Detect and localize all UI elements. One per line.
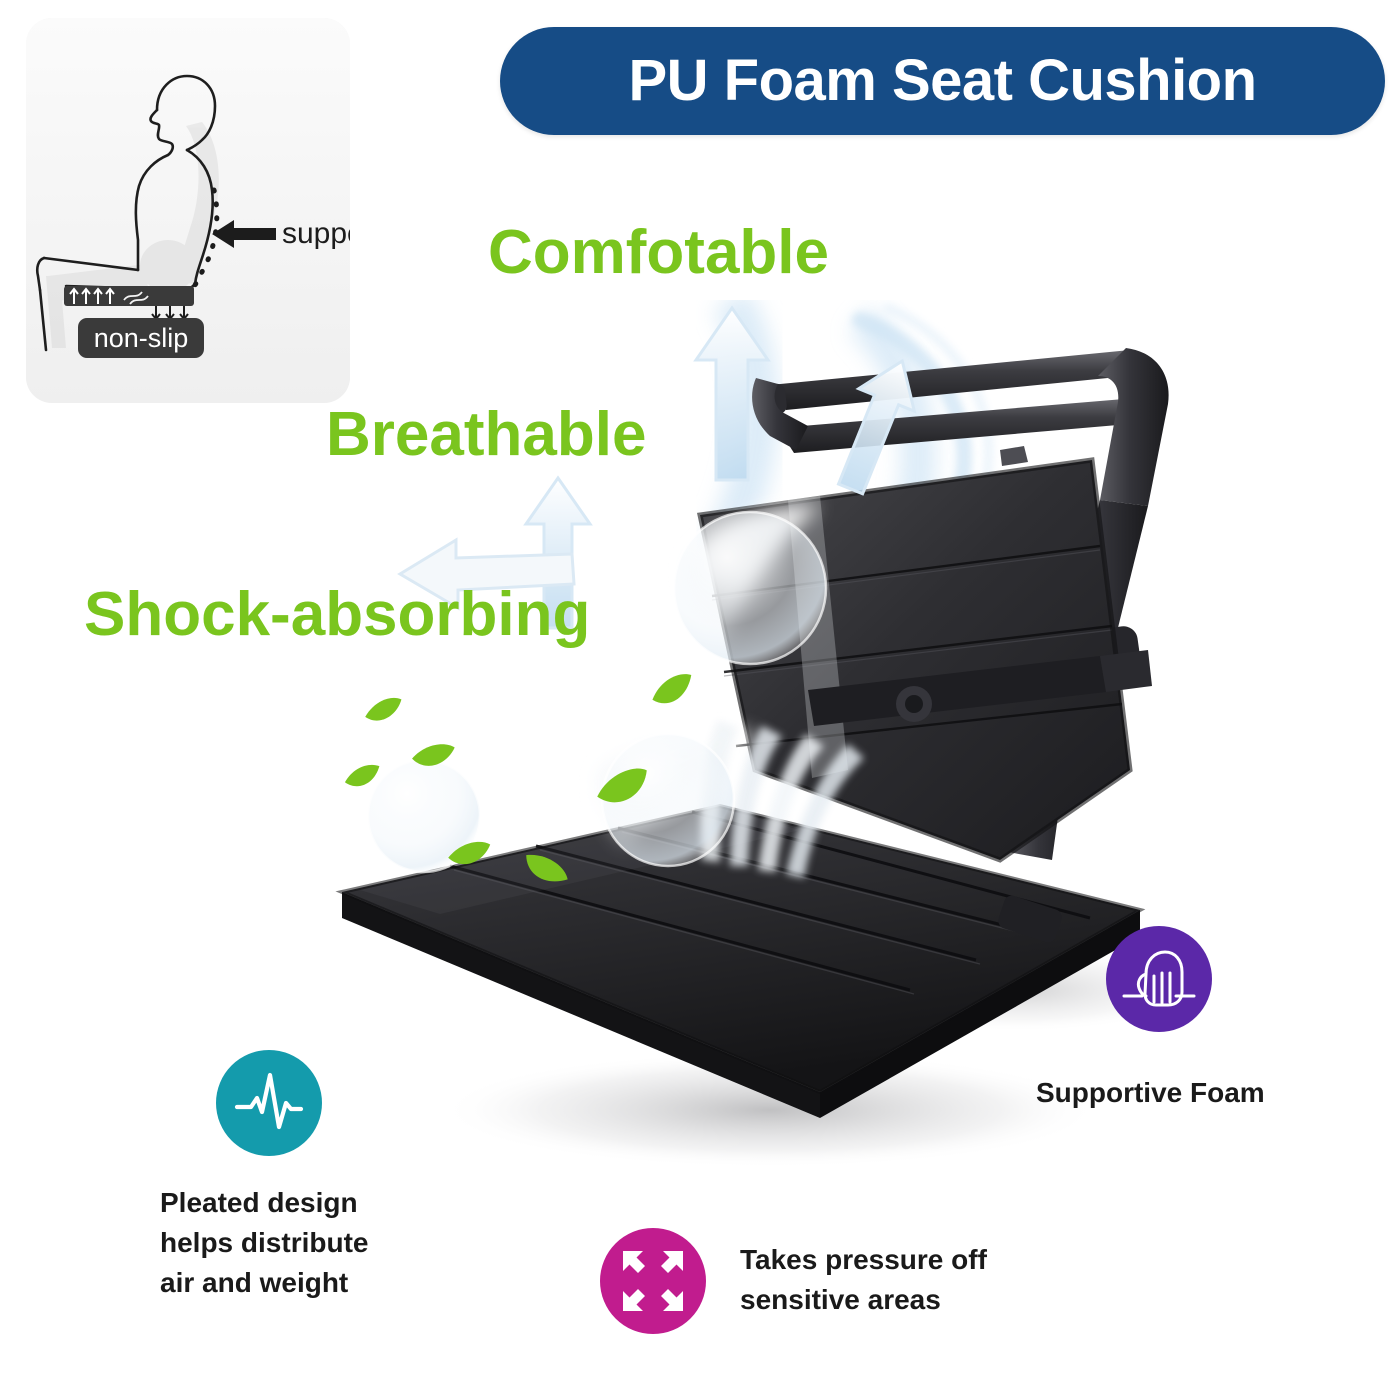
non-slip-label: non-slip <box>94 323 189 353</box>
hand-pressing-foam-icon <box>1120 940 1198 1018</box>
badge-pleated-design-icon-circle <box>216 1050 322 1156</box>
four-way-expand-arrows-icon <box>619 1247 687 1315</box>
feature-heading-shock-absorbing: Shock-absorbing <box>84 584 590 646</box>
badge-pressure-relief-icon-circle <box>600 1228 706 1334</box>
badge-pleated-design-caption: Pleated design helps distribute air and … <box>160 1183 480 1302</box>
support-label: support <box>282 217 350 250</box>
page-title: PU Foam Seat Cushion <box>628 52 1256 110</box>
badge-supportive-foam-icon-circle <box>1106 926 1212 1032</box>
feature-heading-comfortable: Comfotable <box>488 222 829 284</box>
badge-supportive-foam-caption: Supportive Foam <box>1036 1073 1366 1113</box>
badge-pressure-relief-caption: Takes pressure off sensitive areas <box>740 1240 1100 1320</box>
pulse-waveform-icon <box>231 1065 307 1141</box>
product-marketing-image: support <box>0 0 1400 1400</box>
feature-heading-breathable: Breathable <box>326 404 646 466</box>
non-slip-badge: non-slip <box>78 318 204 358</box>
title-banner: PU Foam Seat Cushion <box>500 27 1385 135</box>
